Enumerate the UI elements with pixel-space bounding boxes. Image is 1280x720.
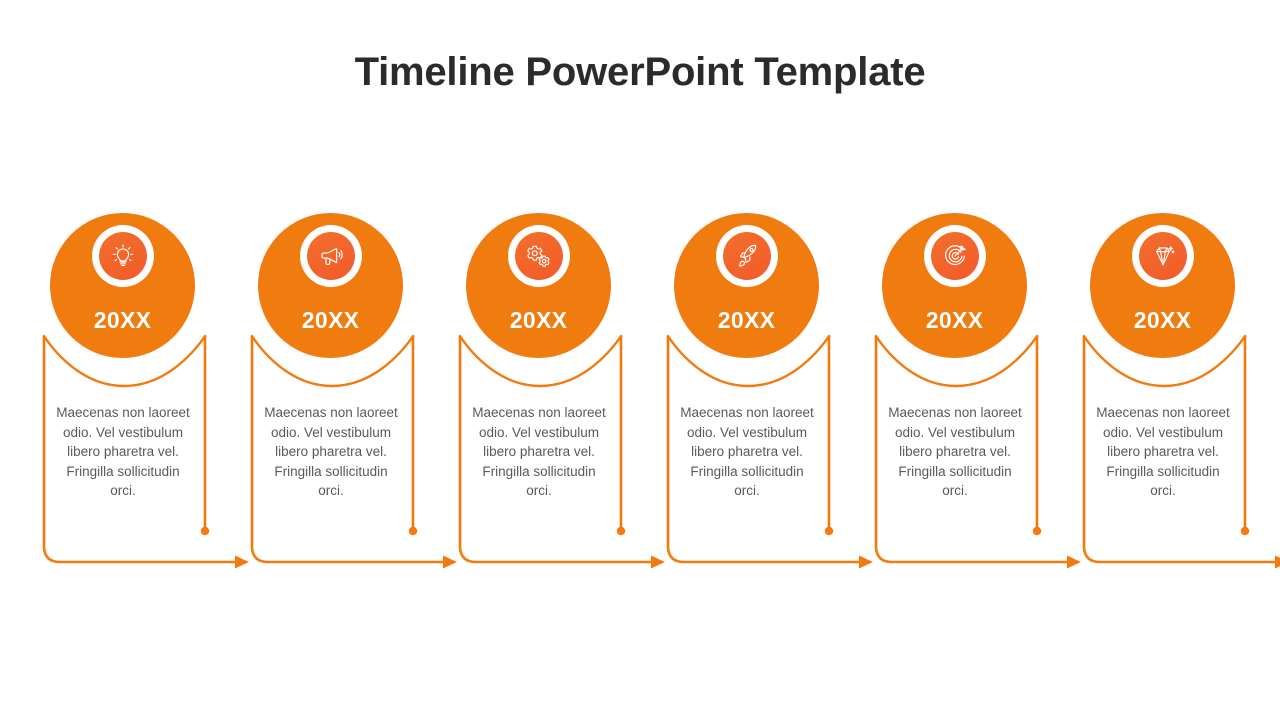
flow-arrow-icon: [235, 556, 249, 569]
milestone-description: Maecenas non laoreet odio. Vel vestibulu…: [56, 403, 190, 501]
milestone-year: 20XX: [674, 307, 819, 333]
milestone-description: Maecenas non laoreet odio. Vel vestibulu…: [472, 403, 606, 501]
milestone-description: Maecenas non laoreet odio. Vel vestibulu…: [264, 403, 398, 501]
rocket-icon: [723, 232, 771, 280]
icon-ring: [716, 225, 778, 287]
timeline-node[interactable]: 20XXMaecenas non laoreet odio. Vel vesti…: [1090, 0, 1280, 720]
milestone-year: 20XX: [882, 307, 1027, 333]
rail-end-dot: [1241, 527, 1249, 535]
milestone-year: 20XX: [258, 307, 403, 333]
milestone-circle[interactable]: 20XX: [674, 213, 819, 358]
flow-arrow-icon: [859, 556, 873, 569]
gears-icon: [515, 232, 563, 280]
rail-end-dot: [825, 527, 833, 535]
milestone-circle[interactable]: 20XX: [50, 213, 195, 358]
rail-end-dot: [617, 527, 625, 535]
timeline-container: 20XXMaecenas non laoreet odio. Vel vesti…: [0, 0, 1280, 720]
flow-arrow-icon: [1275, 556, 1280, 569]
milestone-description: Maecenas non laoreet odio. Vel vestibulu…: [680, 403, 814, 501]
megaphone-icon: [307, 232, 355, 280]
icon-ring: [92, 225, 154, 287]
flow-arrow-icon: [1067, 556, 1081, 569]
rail-end-dot: [201, 527, 209, 535]
milestone-year: 20XX: [466, 307, 611, 333]
icon-ring: [300, 225, 362, 287]
icon-ring: [1132, 225, 1194, 287]
milestone-circle[interactable]: 20XX: [882, 213, 1027, 358]
milestone-year: 20XX: [1090, 307, 1235, 333]
milestone-year: 20XX: [50, 307, 195, 333]
rail-end-dot: [1033, 527, 1041, 535]
slide-canvas: Timeline PowerPoint Template 20XXMaecena…: [0, 0, 1280, 720]
milestone-circle[interactable]: 20XX: [1090, 213, 1235, 358]
icon-ring: [924, 225, 986, 287]
target-icon: [931, 232, 979, 280]
milestone-circle[interactable]: 20XX: [466, 213, 611, 358]
flow-arrow-icon: [651, 556, 665, 569]
flow-arrow-icon: [443, 556, 457, 569]
lightbulb-icon: [99, 232, 147, 280]
milestone-description: Maecenas non laoreet odio. Vel vestibulu…: [1096, 403, 1230, 501]
milestone-circle[interactable]: 20XX: [258, 213, 403, 358]
rail-end-dot: [409, 527, 417, 535]
milestone-description: Maecenas non laoreet odio. Vel vestibulu…: [888, 403, 1022, 501]
connector-bracket: [1090, 0, 1280, 720]
diamond-icon: [1139, 232, 1187, 280]
icon-ring: [508, 225, 570, 287]
